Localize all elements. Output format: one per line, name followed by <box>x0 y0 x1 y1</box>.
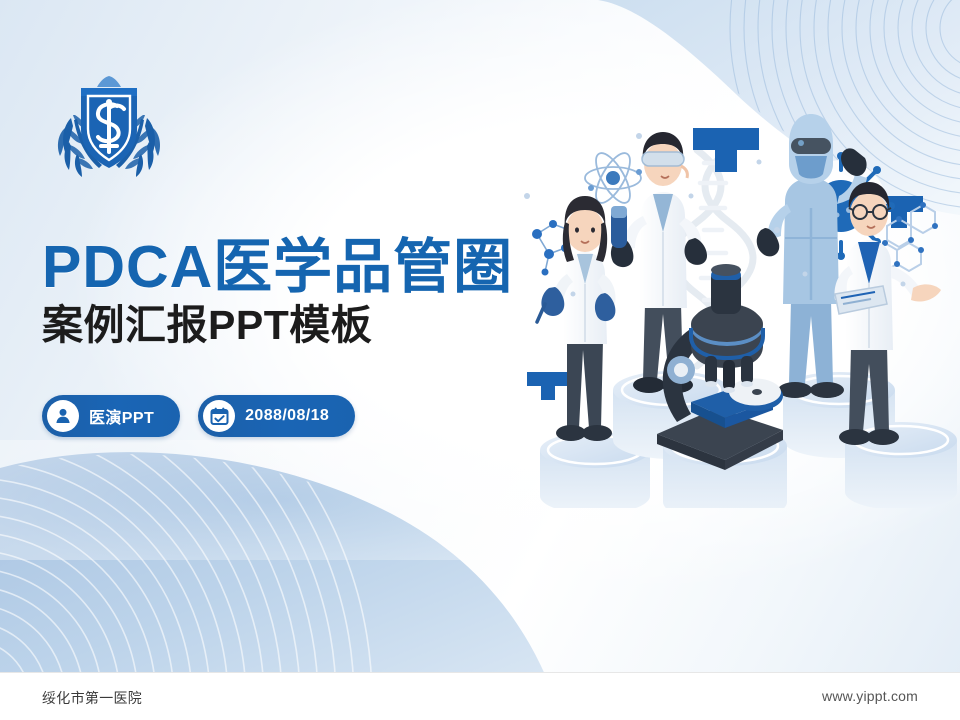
footer-organization: 绥化市第一医院 <box>42 688 142 708</box>
author-badge-label: 医演PPT <box>89 404 154 428</box>
female-scientist-figure <box>537 196 616 441</box>
title-block: PDCA医学品管圈 案例汇报PPT模板 <box>42 236 562 348</box>
goggles-icon <box>642 152 684 166</box>
person-icon <box>47 400 79 432</box>
author-badge[interactable]: 医演PPT <box>42 395 180 437</box>
date-badge[interactable]: 2088/08/18 <box>198 395 355 437</box>
calendar-check-icon <box>203 400 235 432</box>
page-title: PDCA医学品管圈 <box>42 236 562 299</box>
presentation-slide: PDCA医学品管圈 案例汇报PPT模板 医演PPT <box>0 0 960 720</box>
test-tube-icon <box>611 206 627 248</box>
slide-footer: 绥化市第一医院 www.yippt.com <box>0 672 960 720</box>
date-badge-label: 2088/08/18 <box>245 407 329 425</box>
page-subtitle: 案例汇报PPT模板 <box>42 303 562 349</box>
medical-research-team-illustration <box>505 88 960 508</box>
hospital-shield-emblem <box>47 72 171 180</box>
meta-badge-row: 医演PPT 2088/08/18 <box>42 395 355 437</box>
footer-website: www.yippt.com <box>822 688 918 704</box>
male-scientist-figure <box>611 132 707 393</box>
footer-divider <box>0 672 960 673</box>
